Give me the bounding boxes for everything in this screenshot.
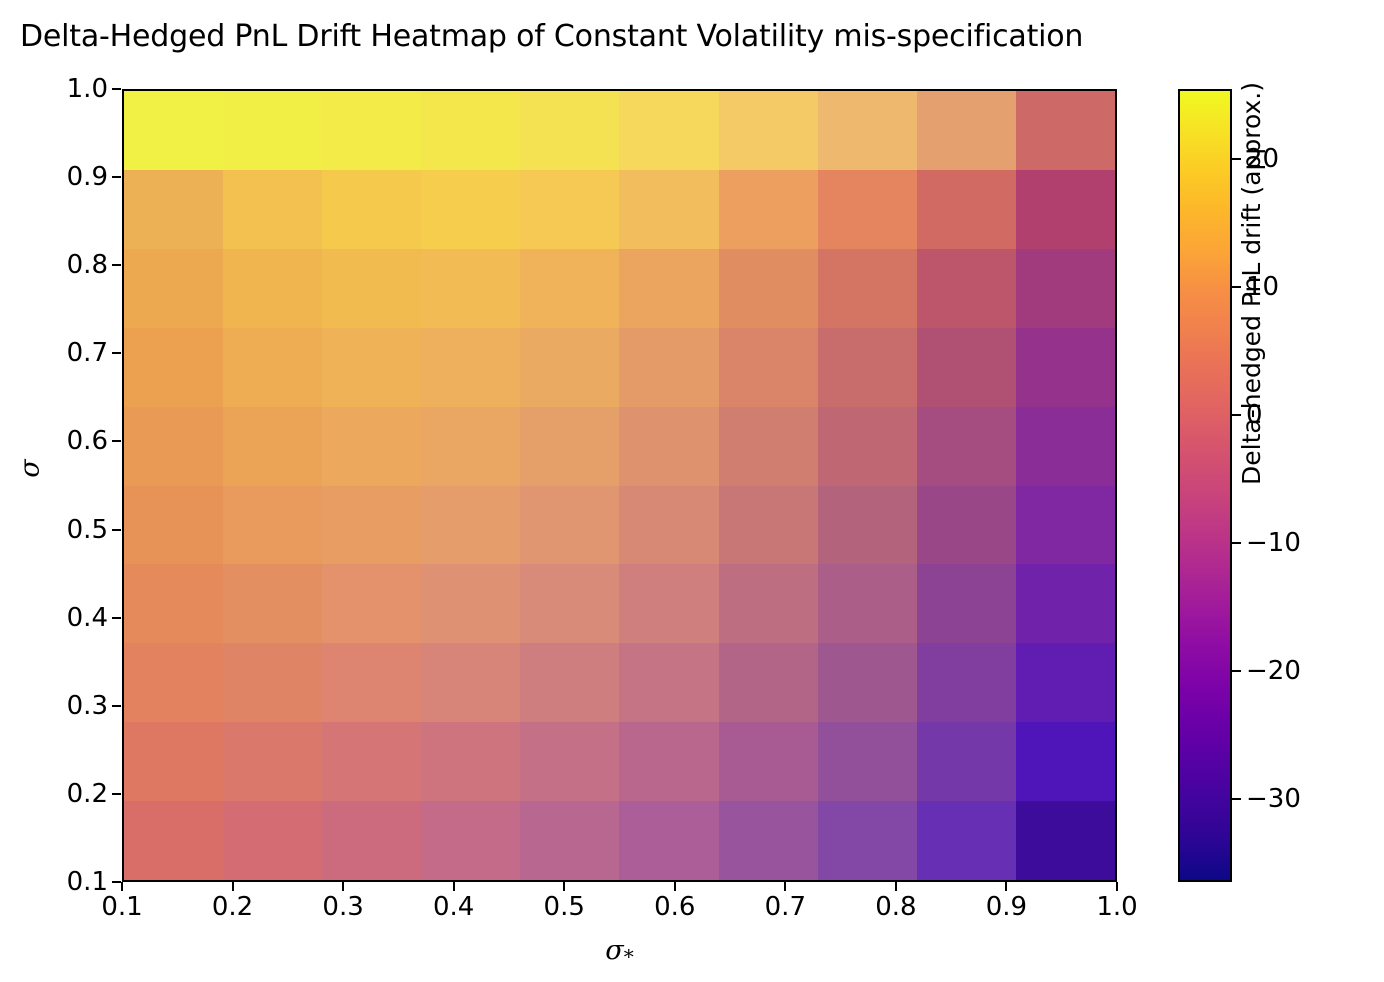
heatmap-cell <box>917 407 1016 486</box>
x-axis-label-text: σ <box>605 935 623 966</box>
heatmap-cell <box>719 170 818 249</box>
y-tick-mark <box>112 176 121 178</box>
x-tick-label: 0.8 <box>836 892 956 922</box>
x-tick-mark <box>563 882 565 891</box>
heatmap-cell <box>520 170 619 249</box>
x-tick-label: 0.6 <box>615 892 735 922</box>
heatmap-cell <box>124 801 223 880</box>
x-tick-mark <box>342 882 344 891</box>
heatmap-cell <box>520 91 619 170</box>
colorbar-label: Delta-hedged PnL drift (approx.) <box>1238 25 1266 485</box>
heatmap-cell <box>818 249 917 328</box>
heatmap-cell <box>223 564 322 643</box>
page-title: Delta-Hedged PnL Drift Heatmap of Consta… <box>20 18 1240 56</box>
y-tick-label: 0.5 <box>0 517 108 543</box>
heatmap-cell <box>619 722 718 801</box>
x-tick-label: 0.4 <box>394 892 514 922</box>
heatmap-cell <box>124 249 223 328</box>
heatmap-cell <box>1016 249 1115 328</box>
y-tick-label: 0.2 <box>0 781 108 807</box>
heatmap-cell <box>719 564 818 643</box>
heatmap-cell <box>520 407 619 486</box>
heatmap-cell <box>1016 486 1115 565</box>
heatmap-cell <box>917 170 1016 249</box>
y-tick-label: 1.0 <box>0 76 108 102</box>
heatmap-cell <box>719 486 818 565</box>
heatmap-cell <box>223 643 322 722</box>
heatmap-cell <box>818 407 917 486</box>
y-tick-mark <box>112 529 121 531</box>
heatmap-cell <box>818 643 917 722</box>
heatmap-cell <box>917 643 1016 722</box>
x-tick-mark <box>232 882 234 891</box>
heatmap-cell <box>520 486 619 565</box>
heatmap-cell <box>818 170 917 249</box>
heatmap-cell <box>421 722 520 801</box>
heatmap-cell <box>421 407 520 486</box>
heatmap-cell <box>619 170 718 249</box>
heatmap-cell <box>719 249 818 328</box>
heatmap-cell <box>1016 91 1115 170</box>
heatmap-cell <box>322 564 421 643</box>
colorbar-tick-label: −20 <box>1246 658 1301 684</box>
heatmap-cell <box>818 801 917 880</box>
y-tick-mark <box>112 793 121 795</box>
x-tick-label: 1.0 <box>1057 892 1177 922</box>
heatmap-cell <box>1016 328 1115 407</box>
x-tick-label: 0.3 <box>283 892 403 922</box>
y-tick-label: 0.4 <box>0 605 108 631</box>
heatmap-cell <box>421 91 520 170</box>
x-axis-label-subscript: * <box>624 944 634 968</box>
heatmap-cell <box>719 328 818 407</box>
heatmap-cell <box>421 328 520 407</box>
heatmap-cell <box>818 564 917 643</box>
colorbar-tick-mark <box>1232 798 1241 800</box>
heatmap-cell <box>421 801 520 880</box>
heatmap-cell <box>917 722 1016 801</box>
colorbar-gradient <box>1178 89 1232 882</box>
heatmap-cell <box>818 328 917 407</box>
colorbar-tick-label: −30 <box>1246 786 1301 812</box>
heatmap-cell <box>917 91 1016 170</box>
heatmap-cell <box>1016 722 1115 801</box>
x-tick-label: 0.1 <box>62 892 182 922</box>
y-tick-label: 0.7 <box>0 340 108 366</box>
heatmap-cell <box>223 486 322 565</box>
colorbar <box>1178 89 1232 882</box>
heatmap-cell <box>1016 801 1115 880</box>
x-axis-tick-labels: 0.10.20.30.40.50.60.70.80.91.0 <box>122 892 1117 932</box>
heatmap-cell <box>1016 170 1115 249</box>
heatmap-cell <box>520 801 619 880</box>
y-tick-mark <box>112 352 121 354</box>
heatmap-cell <box>223 722 322 801</box>
heatmap-cell <box>520 249 619 328</box>
plot-area <box>122 89 1117 882</box>
heatmap-cell <box>619 564 718 643</box>
heatmap-cell <box>421 486 520 565</box>
y-tick-label: 0.9 <box>0 164 108 190</box>
heatmap-cell <box>322 407 421 486</box>
heatmap-cell <box>124 486 223 565</box>
heatmap-cell <box>322 328 421 407</box>
heatmap-cell <box>719 801 818 880</box>
heatmap-cell <box>818 486 917 565</box>
heatmap-cell <box>818 91 917 170</box>
x-tick-mark <box>674 882 676 891</box>
y-tick-mark <box>112 705 121 707</box>
y-tick-mark <box>112 881 121 883</box>
heatmap-cell <box>421 643 520 722</box>
x-tick-label: 0.9 <box>946 892 1066 922</box>
heatmap-cell <box>223 249 322 328</box>
x-tick-mark <box>1116 882 1118 891</box>
heatmap-cell <box>124 91 223 170</box>
heatmap-cell <box>322 170 421 249</box>
heatmap-cell <box>917 564 1016 643</box>
heatmap-cell <box>421 249 520 328</box>
heatmap-cell <box>124 407 223 486</box>
heatmap-figure: Delta-Hedged PnL Drift Heatmap of Consta… <box>0 0 1384 982</box>
colorbar-tick-mark <box>1232 542 1241 544</box>
colorbar-tick-label: −10 <box>1246 530 1301 556</box>
heatmap-cell <box>619 486 718 565</box>
heatmap-cell <box>719 91 818 170</box>
x-tick-mark <box>121 882 123 891</box>
heatmap-cell <box>322 91 421 170</box>
heatmap-cell <box>322 249 421 328</box>
heatmap-cell <box>520 643 619 722</box>
x-tick-label: 0.7 <box>725 892 845 922</box>
y-tick-mark <box>112 617 121 619</box>
heatmap-cell <box>322 486 421 565</box>
x-tick-mark <box>895 882 897 891</box>
heatmap-cell <box>322 722 421 801</box>
heatmap-cell <box>619 91 718 170</box>
heatmap-cell <box>917 249 1016 328</box>
heatmap-cell <box>223 328 322 407</box>
heatmap-cell <box>818 722 917 801</box>
x-tick-label: 0.5 <box>504 892 624 922</box>
heatmap-cell <box>917 486 1016 565</box>
x-tick-label: 0.2 <box>173 892 293 922</box>
heatmap-cell <box>719 643 818 722</box>
y-tick-mark <box>112 88 121 90</box>
heatmap-cell <box>124 564 223 643</box>
heatmap-cell <box>124 722 223 801</box>
heatmap-grid <box>124 91 1115 880</box>
heatmap-cell <box>1016 407 1115 486</box>
x-tick-mark <box>784 882 786 891</box>
heatmap-cell <box>619 643 718 722</box>
heatmap-cell <box>719 722 818 801</box>
x-tick-mark <box>1005 882 1007 891</box>
heatmap-cell <box>223 801 322 880</box>
heatmap-cell <box>917 801 1016 880</box>
heatmap-cell <box>619 801 718 880</box>
y-tick-mark <box>112 264 121 266</box>
heatmap-cell <box>124 170 223 249</box>
heatmap-cell <box>421 170 520 249</box>
y-tick-mark <box>112 440 121 442</box>
heatmap-cell <box>1016 564 1115 643</box>
heatmap-cell <box>223 407 322 486</box>
heatmap-cell <box>619 328 718 407</box>
heatmap-cell <box>520 328 619 407</box>
heatmap-cell <box>223 170 322 249</box>
heatmap-cell <box>520 722 619 801</box>
colorbar-tick-mark <box>1232 670 1241 672</box>
y-tick-label: 0.8 <box>0 252 108 278</box>
heatmap-cell <box>1016 643 1115 722</box>
x-tick-mark <box>453 882 455 891</box>
x-axis-label: σ* <box>122 936 1117 971</box>
y-axis-label: σ <box>17 429 44 509</box>
heatmap-cell <box>917 328 1016 407</box>
heatmap-cell <box>619 407 718 486</box>
heatmap-cell <box>719 407 818 486</box>
heatmap-cell <box>619 249 718 328</box>
heatmap-cell <box>520 564 619 643</box>
heatmap-cell <box>223 91 322 170</box>
heatmap-cell <box>124 643 223 722</box>
y-tick-label: 0.3 <box>0 693 108 719</box>
heatmap-cell <box>322 643 421 722</box>
heatmap-cell <box>124 328 223 407</box>
heatmap-cell <box>421 564 520 643</box>
heatmap-cell <box>322 801 421 880</box>
